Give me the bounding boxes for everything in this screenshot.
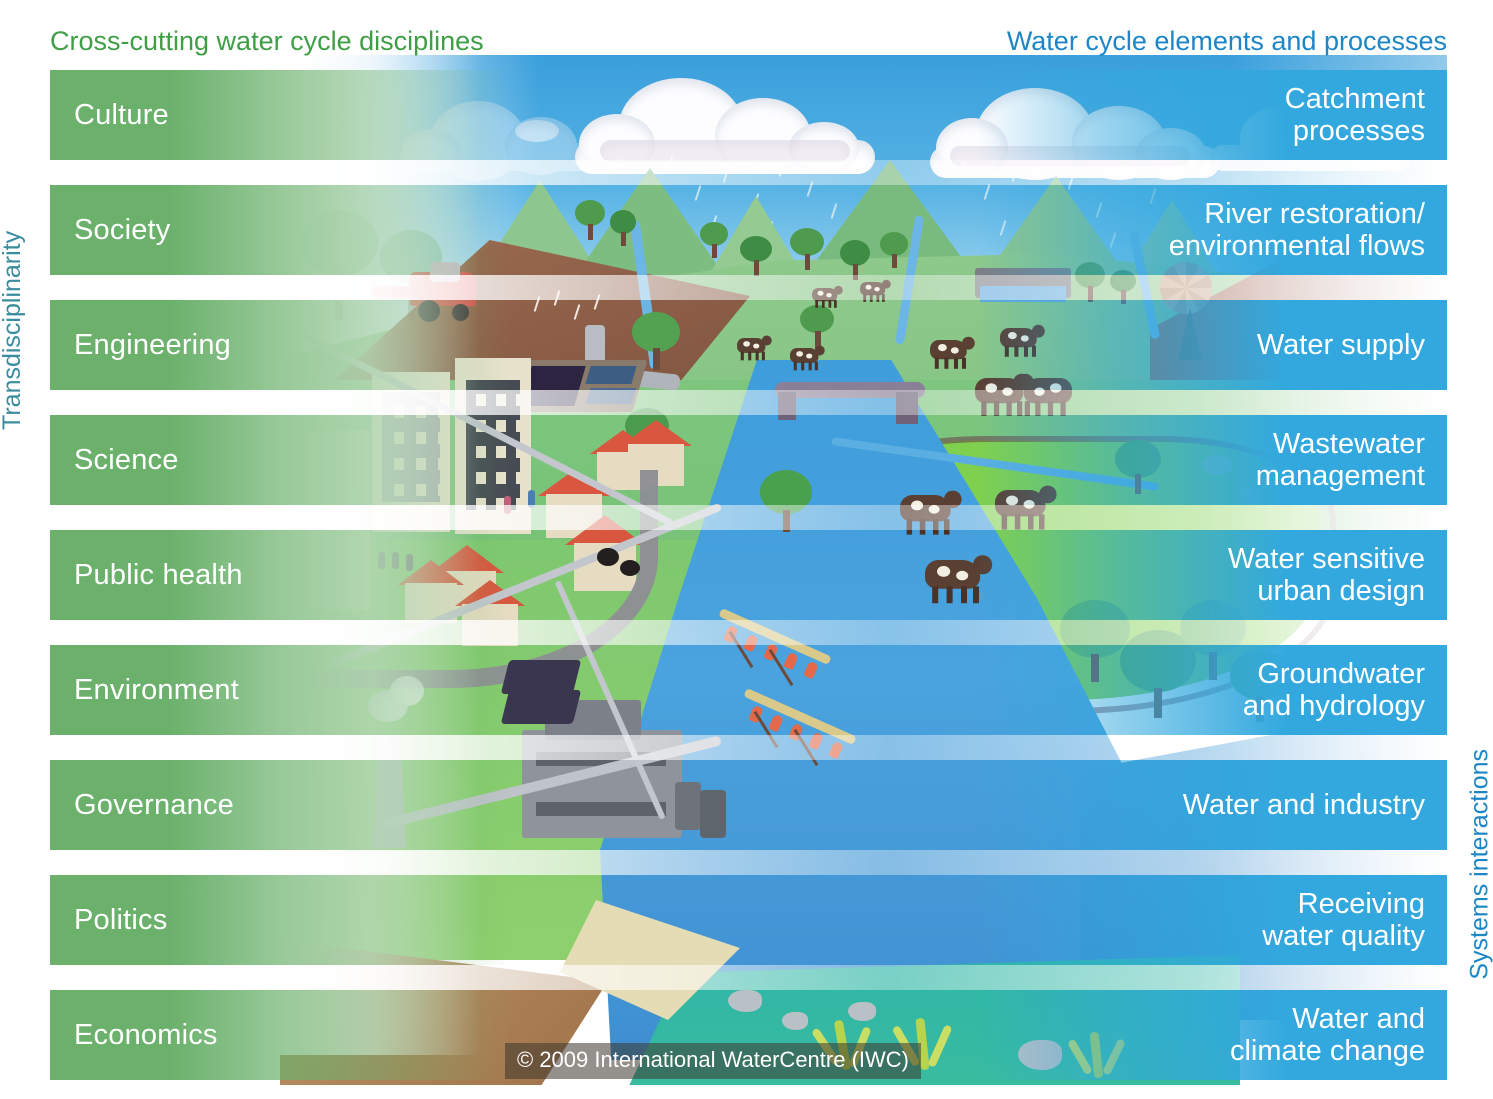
element-bar-catchment-processes[interactable]: Catchmentprocesses bbox=[977, 70, 1447, 160]
bar-label-line2: and hydrology bbox=[1243, 690, 1447, 722]
right-axis-label: Systems interactions bbox=[1466, 749, 1493, 980]
factory-band bbox=[536, 802, 666, 816]
bottom-margin bbox=[0, 1085, 1493, 1099]
bar-label: Engineering bbox=[50, 329, 231, 362]
bar-label: Science bbox=[50, 444, 179, 477]
clarifier-tank bbox=[501, 690, 581, 724]
row-separator bbox=[50, 965, 1447, 990]
element-bar-water-and-climate-change[interactable]: Water andclimate change bbox=[977, 990, 1447, 1080]
row-separator bbox=[50, 160, 1447, 185]
infographic-canvas: Cross-cutting water cycle disciplines Wa… bbox=[0, 0, 1493, 1099]
row-separator bbox=[50, 390, 1447, 415]
row-separator bbox=[50, 620, 1447, 645]
right-heading: Water cycle elements and processes bbox=[1007, 26, 1447, 57]
element-bar-river-restoration[interactable]: River restoration/environmental flows bbox=[977, 185, 1447, 275]
discipline-bar-engineering[interactable]: Engineering bbox=[50, 300, 510, 390]
bar-label-line1: Water supply bbox=[1257, 329, 1447, 361]
discipline-bar-culture[interactable]: Culture bbox=[50, 70, 510, 160]
discipline-bar-public-health[interactable]: Public health bbox=[50, 530, 510, 620]
discipline-bar-economics[interactable]: Economics bbox=[50, 990, 510, 1080]
bar-label-line1: River restoration/ bbox=[1169, 198, 1447, 230]
element-bar-receiving-water-quality[interactable]: Receivingwater quality bbox=[977, 875, 1447, 965]
bar-label-line2: processes bbox=[1285, 115, 1447, 147]
fish bbox=[782, 1012, 808, 1030]
bar-label: Politics bbox=[50, 904, 167, 937]
bar-label-line2: climate change bbox=[1230, 1035, 1447, 1067]
discipline-bar-politics[interactable]: Politics bbox=[50, 875, 510, 965]
clarifier-tank bbox=[501, 660, 581, 694]
element-bar-water-supply[interactable]: Water supply bbox=[977, 300, 1447, 390]
storage-tank bbox=[675, 782, 701, 830]
row-separator bbox=[50, 735, 1447, 760]
left-margin bbox=[0, 0, 50, 1099]
bar-label-line1: Catchment bbox=[1285, 83, 1447, 115]
row-separator bbox=[50, 275, 1447, 300]
bar-label: Governance bbox=[50, 789, 234, 822]
discipline-bar-science[interactable]: Science bbox=[50, 415, 510, 505]
element-bar-water-sensitive-urban-design[interactable]: Water sensitiveurban design bbox=[977, 530, 1447, 620]
discipline-bar-governance[interactable]: Governance bbox=[50, 760, 510, 850]
bar-label: Society bbox=[50, 214, 171, 247]
copyright-notice: © 2009 International WaterCentre (IWC) bbox=[505, 1043, 921, 1079]
storage-tank bbox=[700, 790, 726, 838]
row-separator bbox=[50, 505, 1447, 530]
bar-label-line1: Groundwater bbox=[1243, 658, 1447, 690]
bar-label-line1: Water and bbox=[1230, 1003, 1447, 1035]
outfall bbox=[597, 548, 619, 566]
bar-label: Economics bbox=[50, 1019, 218, 1052]
bar-label-line1: Water sensitive bbox=[1228, 543, 1447, 575]
fish bbox=[848, 1002, 876, 1021]
left-heading: Cross-cutting water cycle disciplines bbox=[50, 26, 484, 57]
solar-panel bbox=[585, 366, 636, 384]
element-bar-groundwater-and-hydrology[interactable]: Groundwaterand hydrology bbox=[977, 645, 1447, 735]
bar-label: Environment bbox=[50, 674, 239, 707]
discipline-bar-society[interactable]: Society bbox=[50, 185, 510, 275]
bar-label-line1: Receiving bbox=[1262, 888, 1447, 920]
bar-label-line2: urban design bbox=[1228, 575, 1447, 607]
bar-label: Public health bbox=[50, 559, 243, 592]
left-axis-label: Transdisciplinarity bbox=[0, 231, 27, 430]
bar-label-line2: management bbox=[1256, 460, 1447, 492]
bar-label-line1: Water and industry bbox=[1183, 789, 1447, 821]
element-bar-water-and-industry[interactable]: Water and industry bbox=[977, 760, 1447, 850]
discipline-bar-environment[interactable]: Environment bbox=[50, 645, 510, 735]
row-separator bbox=[50, 850, 1447, 875]
element-bar-wastewater-management[interactable]: Wastewatermanagement bbox=[977, 415, 1447, 505]
outfall bbox=[620, 560, 640, 576]
bar-label: Culture bbox=[50, 99, 169, 132]
bar-label-line2: water quality bbox=[1262, 920, 1447, 952]
fish bbox=[728, 990, 762, 1012]
bar-label-line2: environmental flows bbox=[1169, 230, 1447, 262]
bar-label-line1: Wastewater bbox=[1256, 428, 1447, 460]
